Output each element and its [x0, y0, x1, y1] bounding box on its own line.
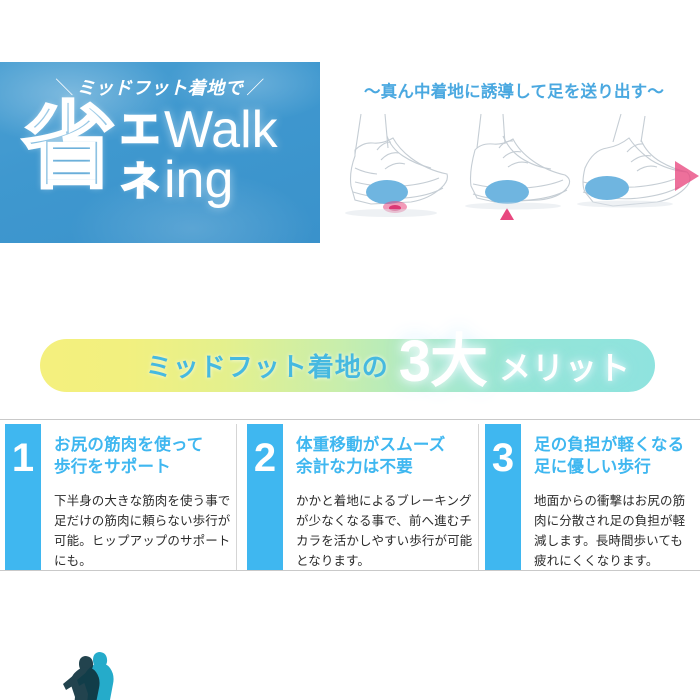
- contact-pad-1: [366, 180, 408, 204]
- merit-card-3: 3 足の負担が軽くなる 足に優しい歩行 地面からの衝撃はお尻の筋肉に分散され足の…: [485, 424, 695, 570]
- banner-big-number: 3大: [399, 338, 487, 386]
- banner-tail-text: メリット: [499, 343, 631, 389]
- merit-card-1-text: 下半身の大きな筋肉を使う事で足だけの筋肉に頼らない歩行が可能。ヒップアップのサポ…: [54, 491, 232, 572]
- hero-section: ＼ミッドフット着地で／ 省 エ ネ Walk ing 〜真ん中着地に誘導して足を…: [0, 0, 700, 250]
- hero-subtitle: 〜真ん中着地に誘導して足を送り出す〜: [336, 78, 692, 102]
- shoe-step-1: [325, 112, 455, 237]
- hero-title-en-top: Walk: [164, 104, 278, 156]
- kicker-right-slash-icon: ／: [243, 74, 268, 100]
- walker-silhouettes-icon: [55, 646, 135, 700]
- merit-card-2-number: 2: [247, 424, 283, 570]
- cards-top-divider: [0, 419, 700, 420]
- merit-card-2-body: 体重移動がスムーズ 余計な力は不要 かかと着地によるブレーキングが少なくなる事で…: [283, 424, 479, 570]
- merit-card-3-text: 地面からの衝撃はお尻の筋肉に分散され足の負担が軽減します。長時間歩いても疲れにく…: [534, 491, 691, 572]
- infographic-page: ＼ミッドフット着地で／ 省 エ ネ Walk ing 〜真ん中着地に誘導して足を…: [0, 0, 700, 700]
- hero-title-kanji: 省: [22, 100, 116, 194]
- merit-card-1: 1 お尻の筋肉を使って 歩行をサポート 下半身の大きな筋肉を使う事で足だけの筋肉…: [5, 424, 237, 570]
- merit-card-3-number: 3: [485, 424, 521, 570]
- hero-title-small-top: エ: [120, 110, 160, 150]
- forward-arrow-icon: [673, 159, 700, 193]
- hero-title-small-bottom: ネ: [120, 162, 160, 202]
- shoe-step-2: [451, 112, 581, 237]
- contact-pad-3: [585, 176, 629, 200]
- banner-lead-text: ミッドフット着地の: [146, 347, 389, 384]
- merit-cards: 1 お尻の筋肉を使って 歩行をサポート 下半身の大きな筋肉を使う事で足だけの筋肉…: [0, 419, 700, 571]
- hero-blue-panel: ＼ミッドフット着地で／ 省 エ ネ Walk ing: [0, 62, 320, 243]
- hero-title: 省 エ ネ Walk ing: [12, 102, 312, 232]
- merit-card-1-heading: お尻の筋肉を使って 歩行をサポート: [54, 434, 232, 479]
- merit-card-2-text: かかと着地によるブレーキングが少なくなる事で、前へ進むチカラを活かしやすい歩行が…: [296, 491, 474, 572]
- shoe-sequence: [325, 112, 700, 237]
- merit-card-1-number: 1: [5, 424, 41, 570]
- merit-card-1-body: お尻の筋肉を使って 歩行をサポート 下半身の大きな筋肉を使う事で足だけの筋肉に頼…: [41, 424, 237, 570]
- contact-pad-2: [485, 180, 529, 204]
- hero-title-en-bottom: ing: [164, 154, 233, 206]
- merit-banner: ミッドフット着地の 3大 メリット: [0, 320, 700, 415]
- merit-card-3-body: 足の負担が軽くなる 足に優しい歩行 地面からの衝撃はお尻の筋肉に分散され足の負担…: [521, 424, 695, 570]
- merit-card-2-heading: 体重移動がスムーズ 余計な力は不要: [296, 434, 474, 479]
- banner-text: ミッドフット着地の 3大 メリット: [40, 339, 655, 392]
- landing-marker-triangle: [500, 208, 514, 220]
- merit-card-2: 2 体重移動がスムーズ 余計な力は不要 かかと着地によるブレーキングが少なくなる…: [247, 424, 479, 570]
- merit-card-3-heading: 足の負担が軽くなる 足に優しい歩行: [534, 434, 691, 479]
